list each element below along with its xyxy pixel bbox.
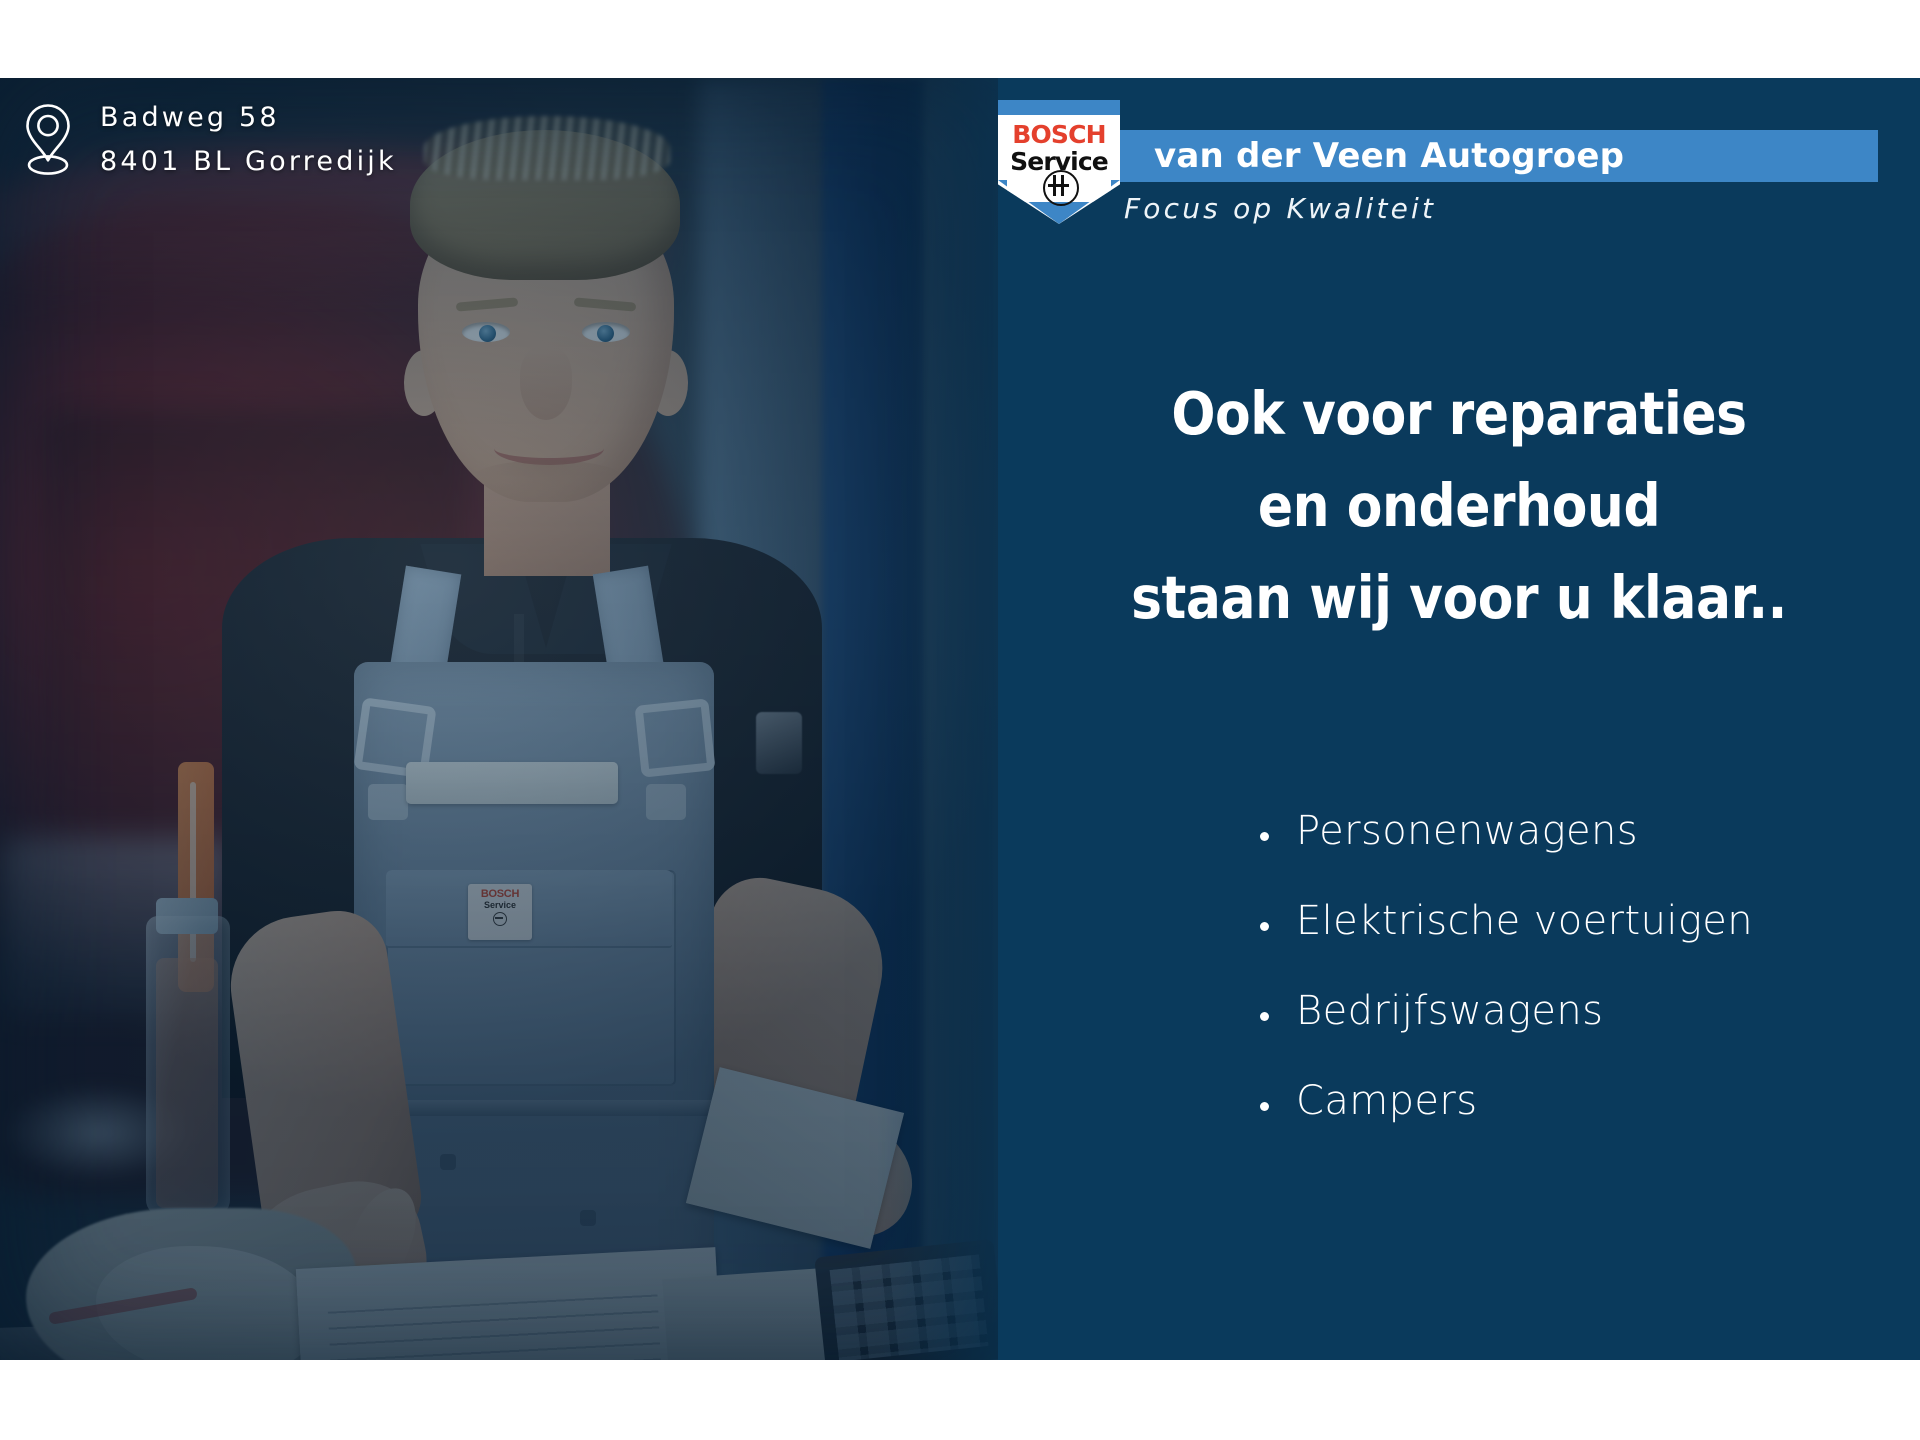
advertisement-slide: BOSCH Service xyxy=(0,78,1920,1360)
headline-line-2: en onderhoud xyxy=(1053,460,1864,552)
info-panel: van der Veen Autogroep Focus op Kwalitei… xyxy=(998,78,1920,1360)
company-tagline: Focus op Kwaliteit xyxy=(1124,192,1436,225)
address-line-2: 8401 BL Gorredijk xyxy=(100,140,397,184)
bosch-wordmark: BOSCH xyxy=(1012,122,1106,148)
headline-line-3: staan wij voor u klaar.. xyxy=(1053,552,1864,644)
address-block: Badweg 58 8401 BL Gorredijk xyxy=(22,96,397,184)
list-item: Bedrijfswagens xyxy=(1256,988,1896,1034)
bosch-service-logo: BOSCH Service xyxy=(998,100,1120,224)
list-item: Campers xyxy=(1256,1078,1896,1124)
map-pin-icon xyxy=(22,102,74,178)
headline-line-1: Ook voor reparaties xyxy=(1053,368,1864,460)
headline: Ook voor reparaties en onderhoud staan w… xyxy=(1053,368,1864,644)
address-line-1: Badweg 58 xyxy=(100,96,397,140)
company-name: van der Veen Autogroep xyxy=(1154,134,1894,178)
brand-header: van der Veen Autogroep Focus op Kwalitei… xyxy=(998,100,1920,230)
photo-right-fade xyxy=(878,78,998,1360)
workshop-photo-panel: BOSCH Service xyxy=(0,78,998,1360)
services-list: Personenwagens Elektrische voertuigen Be… xyxy=(1256,808,1896,1168)
shield-top-band xyxy=(998,100,1120,115)
photo-vignette xyxy=(0,78,998,1360)
photo-scene: BOSCH Service xyxy=(0,78,998,1360)
address-text: Badweg 58 8401 BL Gorredijk xyxy=(100,96,397,184)
bosch-armature-icon xyxy=(1043,170,1079,206)
list-item: Personenwagens xyxy=(1256,808,1896,854)
list-item: Elektrische voertuigen xyxy=(1256,898,1896,944)
